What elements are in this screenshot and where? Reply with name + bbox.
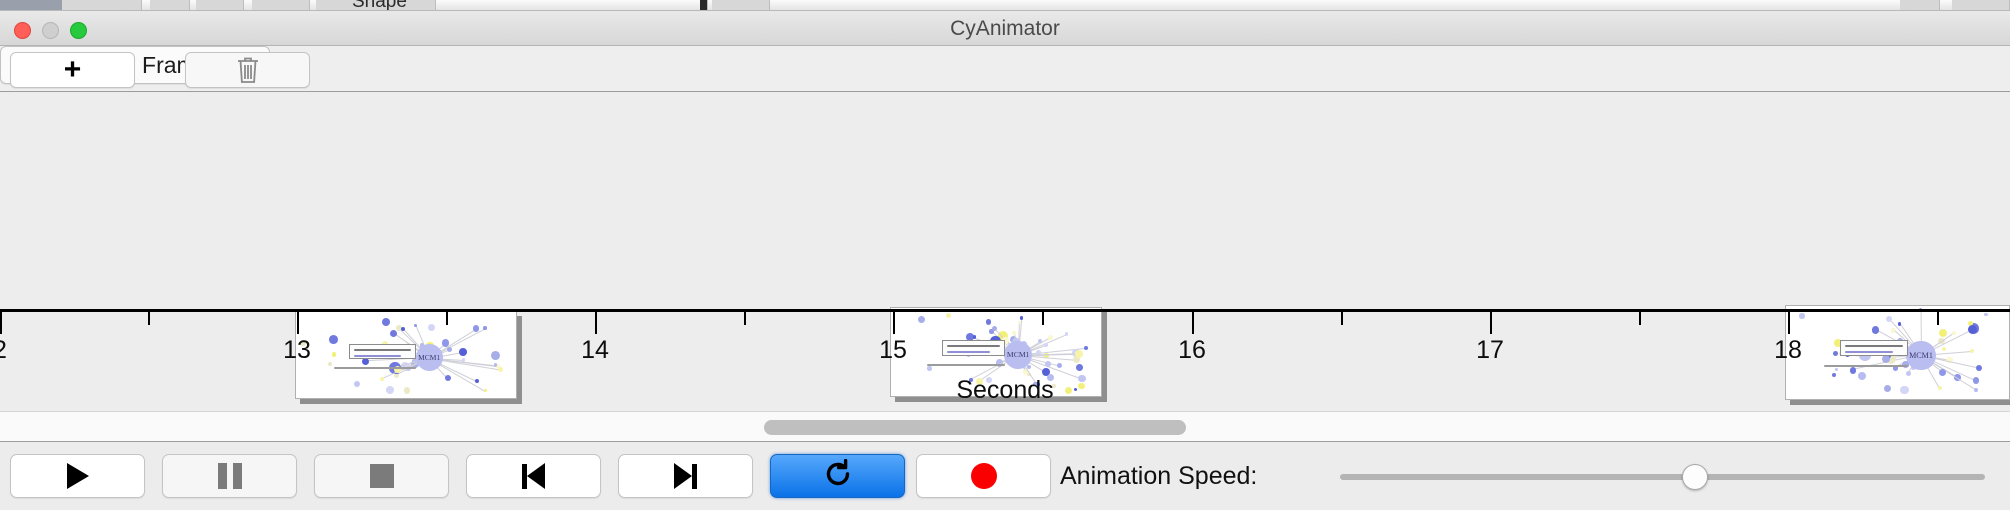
graph-node: [1976, 365, 1982, 371]
graph-caption-line: [927, 364, 1005, 366]
stop-button[interactable]: [314, 454, 449, 498]
graph-node: [1075, 350, 1083, 358]
graph-tooltip-callout: [942, 340, 1006, 355]
graph-node: [1833, 351, 1838, 356]
horizontal-scrollbar[interactable]: [0, 411, 2010, 442]
axis-tick-major: [893, 312, 895, 334]
axis-caption: Seconds: [0, 376, 2010, 405]
axis-tick-minor: [148, 312, 150, 325]
graph-caption-line: [1824, 365, 1907, 367]
axis-tick-major: [0, 312, 2, 334]
graph-node: [1942, 347, 1946, 351]
graph-node: [946, 313, 951, 318]
graph-node: [1084, 346, 1088, 350]
graph-node: [483, 326, 487, 330]
trash-icon: [235, 55, 261, 85]
animation-speed-thumb[interactable]: [1682, 464, 1708, 490]
axis-tick-minor: [1639, 312, 1641, 325]
skip-forward-icon: [674, 463, 697, 489]
graph-node: [1799, 313, 1804, 318]
record-button[interactable]: [916, 454, 1051, 498]
graph-node: [1952, 331, 1956, 335]
graph-hub-node: MCM1: [1906, 341, 1935, 370]
timeline-axis: [0, 309, 2010, 312]
axis-tick-label: 17: [1476, 336, 1504, 365]
graph-node: [1057, 363, 1062, 368]
axis-tick-label: 14: [581, 336, 609, 365]
skip-forward-button[interactable]: [618, 454, 753, 498]
graph-node: [1939, 329, 1947, 337]
stop-icon: [370, 464, 394, 488]
axis-tick-label: 13: [283, 336, 311, 365]
graph-node: [1835, 368, 1838, 371]
toolbar: + Clear All Frames: [0, 46, 2010, 92]
graph-node: [1970, 349, 1974, 353]
axis-tick-minor: [1937, 312, 1939, 325]
cyanimator-window: Shape CyAnimator + Clear All Frames: [0, 0, 2010, 510]
graph-node: [1076, 364, 1083, 371]
axis-tick-major: [1192, 312, 1194, 334]
callout-text-line: [1845, 345, 1903, 347]
skip-back-button[interactable]: [466, 454, 601, 498]
graph-node: [1027, 365, 1031, 369]
graph-node: [1044, 343, 1047, 346]
graph-node: [1872, 326, 1879, 333]
axis-tick-label: 15: [879, 336, 907, 365]
axis-tick-major: [595, 312, 597, 334]
add-frame-button[interactable]: +: [10, 52, 135, 88]
animation-speed-slider[interactable]: [1340, 474, 1985, 480]
graph-node: [1045, 361, 1051, 367]
pause-icon: [218, 463, 242, 489]
graph-node: [328, 362, 332, 366]
graph-node: [927, 366, 931, 370]
axis-tick-label: 2: [0, 336, 7, 365]
axis-tick-major: [1490, 312, 1492, 334]
graph-hub-node: MCM1: [416, 344, 443, 371]
timeline-panel[interactable]: MCM1MCM1MCM1 2131415161718 Seconds: [0, 93, 2010, 411]
play-icon: [67, 463, 89, 489]
graph-caption-line: [334, 367, 416, 369]
graph-node: [918, 316, 926, 324]
graph-node: [442, 339, 450, 347]
loop-icon: [823, 459, 853, 494]
graph-node: [494, 363, 497, 366]
callout-text-line: [354, 349, 411, 351]
skip-back-icon: [522, 463, 545, 489]
graph-node: [973, 335, 976, 338]
graph-tooltip-callout: [1840, 340, 1908, 356]
callout-text-line: [354, 355, 401, 357]
callout-text-line: [947, 351, 991, 353]
playback-toolbar: Animation Speed:: [0, 443, 2010, 510]
graph-node: [498, 367, 503, 372]
graph-node: [491, 351, 500, 360]
axis-tick-minor: [446, 312, 448, 325]
axis-tick-minor: [744, 312, 746, 325]
graph-node: [1939, 369, 1946, 376]
callout-text-line: [1845, 351, 1893, 353]
graph-node: [332, 352, 337, 357]
background-window-title: Shape: [352, 0, 407, 11]
window-title: CyAnimator: [0, 11, 2010, 46]
graph-node: [459, 348, 467, 356]
loop-button[interactable]: [770, 454, 905, 498]
graph-node: [1020, 316, 1024, 320]
graph-tooltip-callout: [349, 344, 416, 359]
graph-node: [1984, 313, 1988, 317]
graph-node: [1048, 335, 1053, 340]
play-button[interactable]: [10, 454, 145, 498]
pause-button[interactable]: [162, 454, 297, 498]
graph-node: [1891, 328, 1896, 333]
title-bar: CyAnimator: [0, 11, 2010, 46]
graph-node: [329, 335, 338, 344]
axis-tick-label: 18: [1774, 336, 1802, 365]
axis-tick-major: [1788, 312, 1790, 334]
graph-hub-node: MCM1: [1004, 341, 1032, 369]
graph-node: [1012, 331, 1015, 334]
axis-tick-minor: [1042, 312, 1044, 325]
record-icon: [971, 463, 997, 489]
axis-tick-label: 16: [1178, 336, 1206, 365]
graph-node: [1850, 367, 1857, 374]
callout-text-line: [947, 345, 1001, 347]
scrollbar-thumb[interactable]: [764, 420, 1186, 435]
plus-icon: +: [64, 55, 82, 85]
animation-speed-label: Animation Speed:: [1060, 454, 1257, 498]
delete-frame-button[interactable]: [185, 52, 310, 88]
background-window-strip: Shape: [0, 0, 2010, 11]
graph-node: [382, 318, 391, 327]
graph-node: [428, 324, 435, 331]
graph-node: [1065, 332, 1068, 335]
axis-tick-minor: [1341, 312, 1343, 325]
axis-tick-major: [297, 312, 299, 334]
graph-node: [986, 319, 991, 324]
